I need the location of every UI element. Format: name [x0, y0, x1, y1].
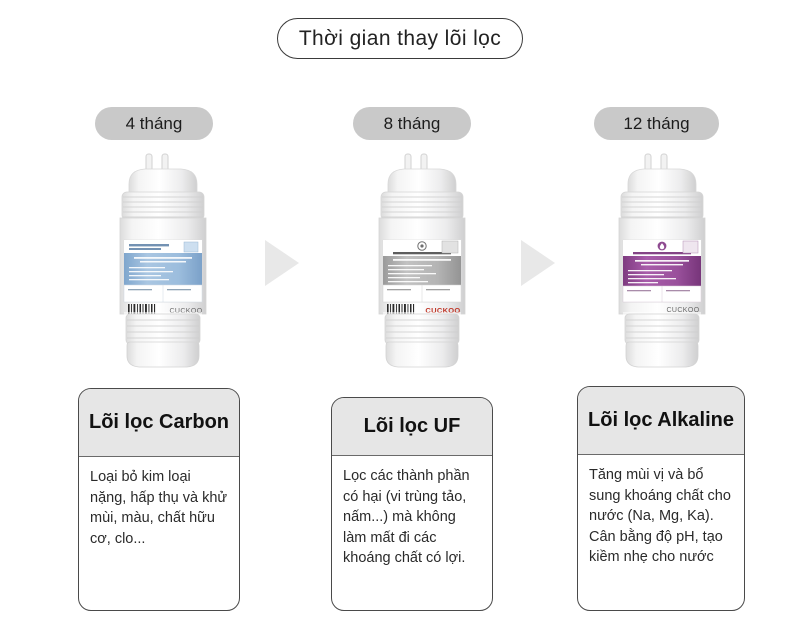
replacement-period-badge-alkaline: 12 tháng — [594, 107, 719, 140]
badge-label: 8 tháng — [384, 114, 441, 134]
replacement-period-badge-uf: 8 tháng — [353, 107, 471, 140]
badge-label: 4 tháng — [126, 114, 183, 134]
card-body: Lọc các thành phần có hại (vi trùng tảo,… — [332, 456, 492, 569]
card-description: Tăng mùi vị và bổ sung khoáng chất cho n… — [589, 465, 733, 568]
card-title: Lõi lọc Carbon — [89, 411, 229, 433]
carbon-filter-cartridge: CUCKOO — [104, 152, 222, 368]
filter-info-card-uf: Lõi lọc UF Lọc các thành phần có hại (vi… — [331, 397, 493, 611]
filter-info-card-carbon: Lõi lọc Carbon Loại bỏ kim loại nặng, hấ… — [78, 388, 240, 611]
card-description: Loại bỏ kim loại nặng, hấp thụ và khử mù… — [90, 467, 228, 549]
alkaline-filter-cartridge: CUCKOO — [603, 152, 721, 368]
right-triangle-arrow-icon — [521, 240, 555, 286]
card-header: Lõi lọc UF — [332, 398, 492, 456]
page-title-pill: Thời gian thay lõi lọc — [277, 18, 523, 59]
card-header: Lõi lọc Alkaline — [578, 387, 744, 455]
card-body: Loại bỏ kim loại nặng, hấp thụ và khử mù… — [79, 457, 239, 549]
card-title: Lõi lọc Alkaline — [588, 409, 734, 431]
replacement-period-badge-carbon: 4 tháng — [95, 107, 213, 140]
filter-info-card-alkaline: Lõi lọc Alkaline Tăng mùi vị và bổ sung … — [577, 386, 745, 611]
badge-label: 12 tháng — [623, 114, 689, 134]
uf-filter-cartridge: CUCKOO — [363, 152, 481, 368]
card-description: Lọc các thành phần có hại (vi trùng tảo,… — [343, 466, 481, 569]
page-title: Thời gian thay lõi lọc — [299, 27, 501, 51]
card-title: Lõi lọc UF — [364, 415, 461, 437]
card-header: Lõi lọc Carbon — [79, 389, 239, 457]
card-body: Tăng mùi vị và bổ sung khoáng chất cho n… — [578, 455, 744, 568]
right-triangle-arrow-icon — [265, 240, 299, 286]
